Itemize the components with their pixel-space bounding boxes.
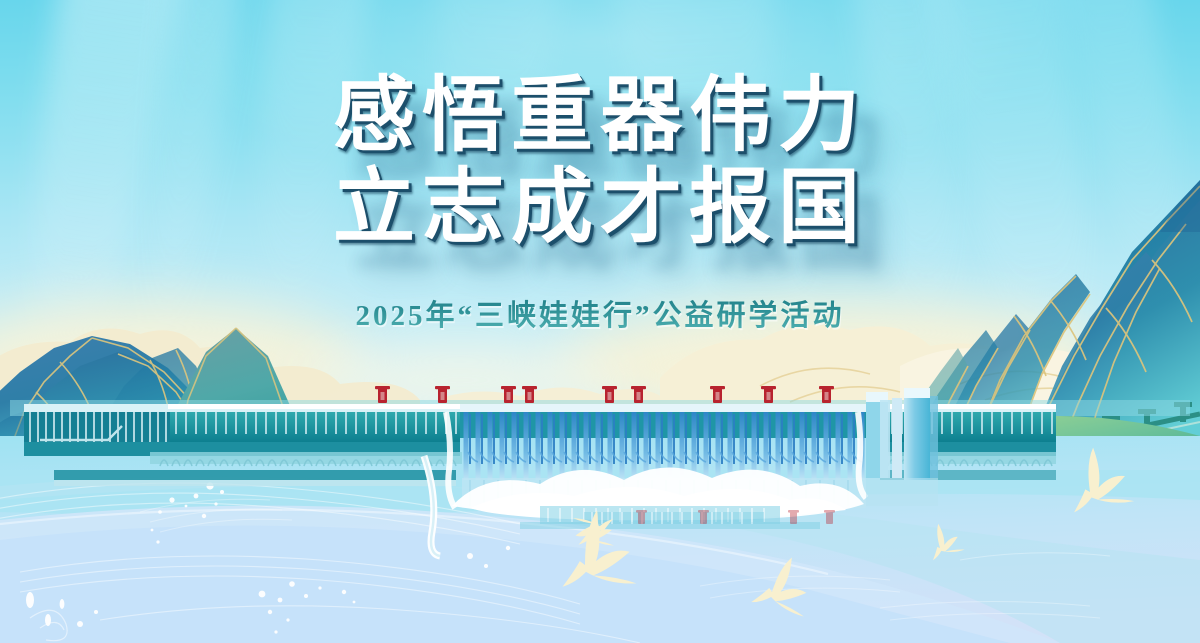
- banner-root: 感悟重器伟力 立志成才报国 2025年“三峡娃娃行”公益研学活动 2025年“三…: [0, 0, 1200, 643]
- subtitle: 2025年“三峡娃娃行”公益研学活动: [0, 292, 1200, 334]
- ship-lift-tower: [866, 388, 938, 506]
